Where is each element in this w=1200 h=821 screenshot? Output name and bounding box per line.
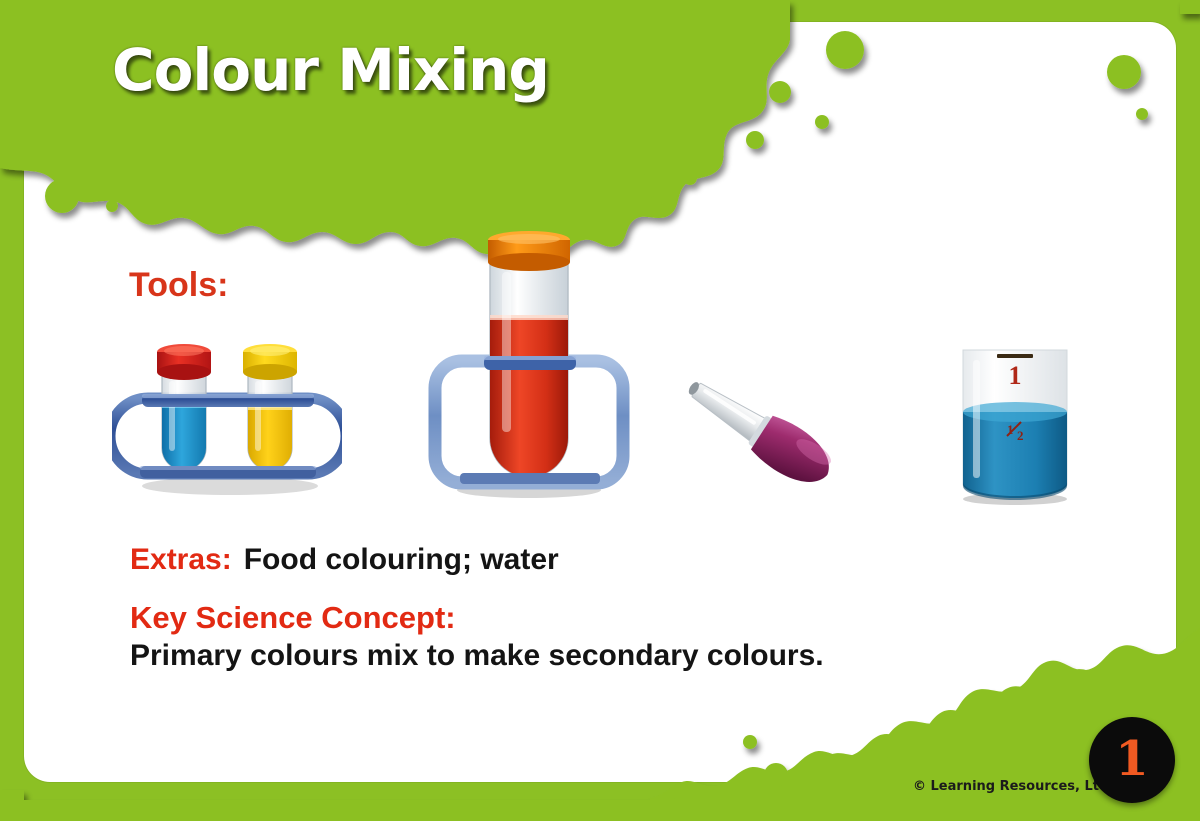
eyedropper-icon <box>666 352 856 512</box>
copyright-text: © Learning Resources, Ltd. <box>913 779 1113 794</box>
extras-label: Extras: <box>130 543 232 576</box>
key-science-concept-label: Key Science Concept: <box>130 600 456 636</box>
test-tube-rack-icon <box>112 336 342 496</box>
tools-label: Tools: <box>129 266 228 305</box>
page-number-badge: 1 <box>1089 717 1175 803</box>
page-title: Colour Mixing <box>112 36 549 104</box>
svg-text:2: 2 <box>1017 428 1024 443</box>
cup-mark-1: 1 <box>1009 361 1022 390</box>
key-science-concept-value: Primary colours mix to make secondary co… <box>130 639 824 673</box>
measuring-cup-icon: 1 1 2 <box>945 336 1085 506</box>
activity-card: Colour Mixing Tools: <box>0 0 1200 821</box>
extras-value: Food colouring; water <box>244 543 559 576</box>
extras-line: Extras:Food colouring; water <box>130 543 559 577</box>
page-number-value: 1 <box>1115 735 1148 783</box>
large-test-tube-icon <box>424 228 634 503</box>
